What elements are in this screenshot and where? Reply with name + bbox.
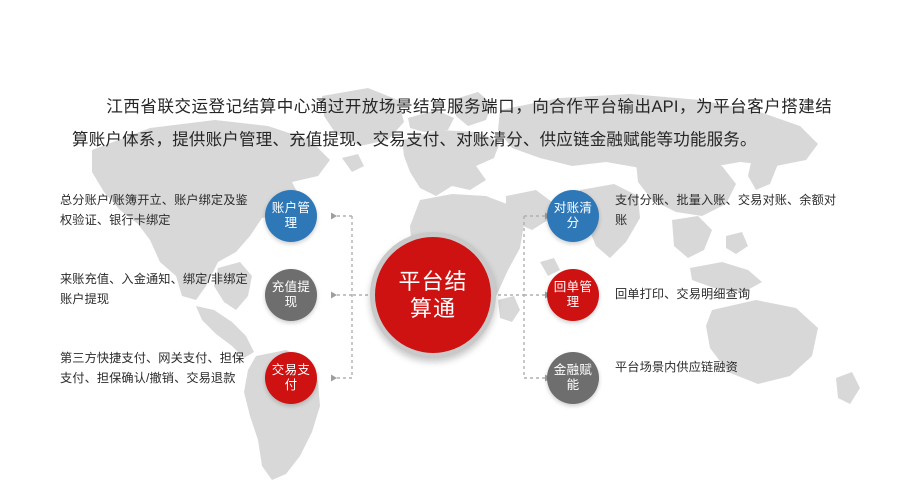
caption-recharge-withdraw: 来账充值、入金通知、绑定/非绑定账户提现	[60, 269, 252, 309]
node-financial-empowerment-label: 金融赋能	[553, 363, 593, 393]
node-transaction-payment[interactable]: 交易支付	[265, 352, 317, 404]
node-recharge-withdraw-label: 充值提现	[271, 280, 311, 310]
caption-financial-empowerment: 平台场景内供应链融资	[615, 357, 840, 377]
center-hub-label: 平台结算通	[398, 268, 468, 322]
node-receipt-management-label: 回单管理	[553, 280, 593, 310]
caption-receipt-management: 回单打印、交易明细查询	[615, 284, 840, 304]
node-financial-empowerment[interactable]: 金融赋能	[547, 352, 599, 404]
node-recharge-withdraw[interactable]: 充值提现	[265, 269, 317, 321]
caption-account-management: 总分账户/账簿开立、账户绑定及鉴权验证、银行卡绑定	[60, 190, 252, 230]
intro-paragraph: 江西省联交运登记结算中心通过开放场景结算服务端口，向合作平台输出API，为平台客…	[72, 91, 832, 157]
slide-canvas: 江西省联交运登记结算中心通过开放场景结算服务端口，向合作平台输出API，为平台客…	[0, 0, 900, 503]
node-reconciliation-clearing[interactable]: 对账清分	[547, 190, 599, 242]
node-account-management-label: 账户管理	[271, 201, 311, 231]
node-transaction-payment-label: 交易支付	[271, 363, 311, 393]
caption-reconciliation-clearing: 支付分账、批量入账、交易对账、余额对账	[615, 190, 840, 230]
node-account-management[interactable]: 账户管理	[265, 190, 317, 242]
node-receipt-management[interactable]: 回单管理	[547, 269, 599, 321]
intro-paragraph-text: 江西省联交运登记结算中心通过开放场景结算服务端口，向合作平台输出API，为平台客…	[72, 98, 832, 149]
node-reconciliation-clearing-label: 对账清分	[553, 201, 593, 231]
center-hub-platform-settlement[interactable]: 平台结算通	[370, 232, 496, 358]
caption-transaction-payment: 第三方快捷支付、网关支付、担保支付、担保确认/撤销、交易退款	[60, 348, 252, 388]
